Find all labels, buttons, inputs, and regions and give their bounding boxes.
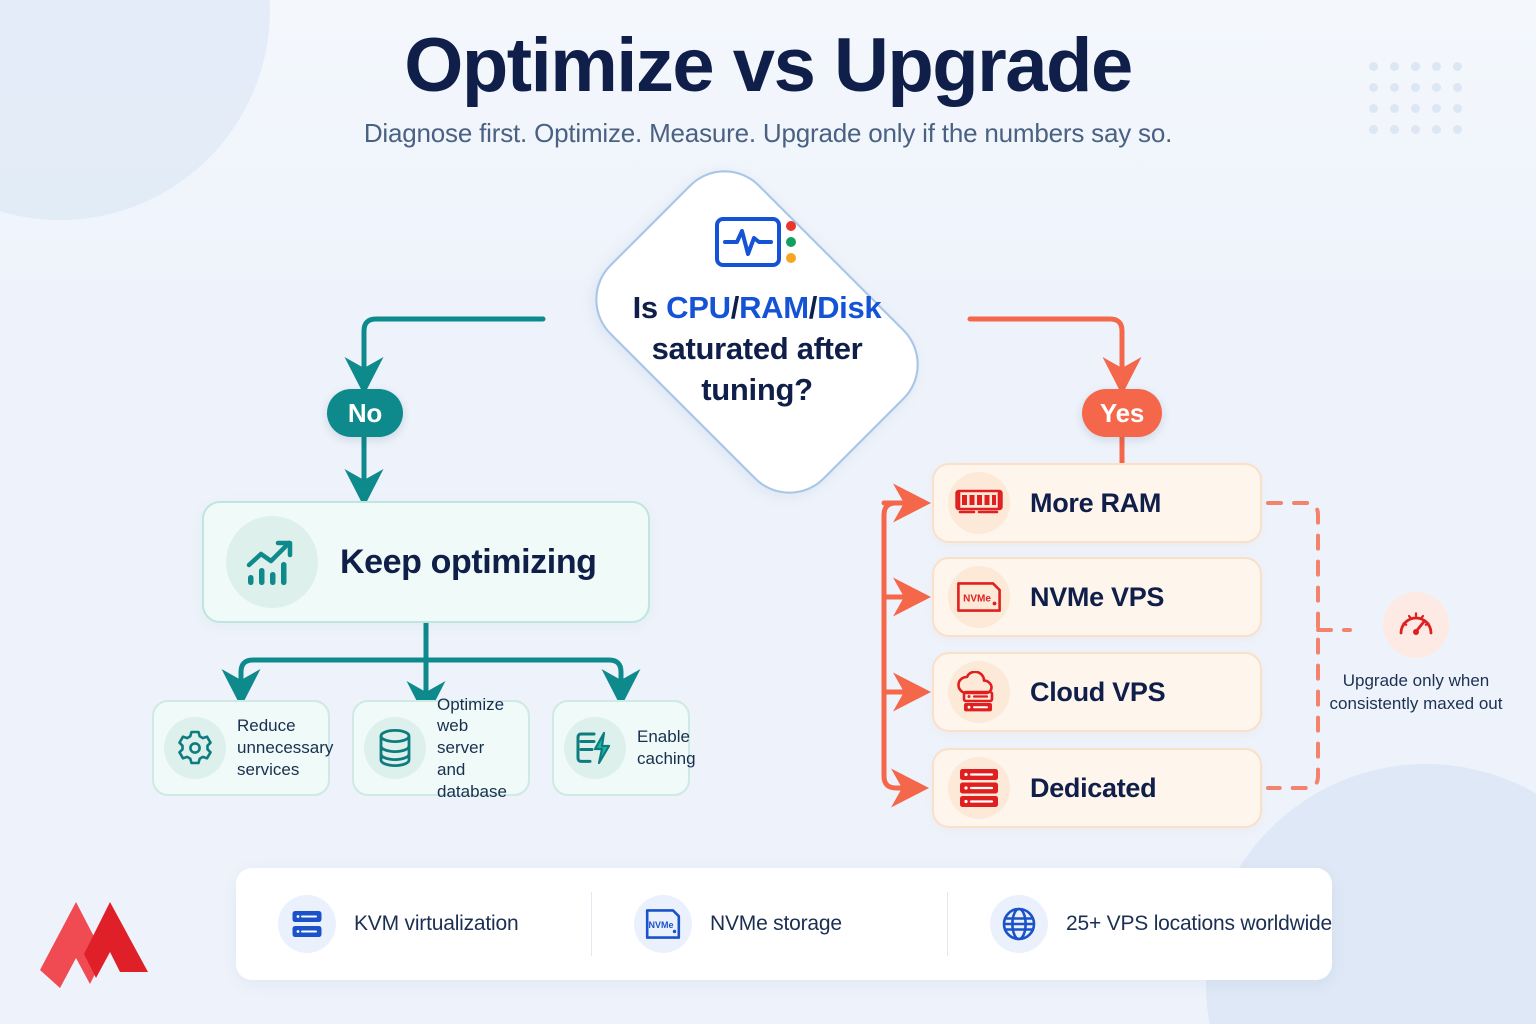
optimize-action-card-reduce-services[interactable]: Reduce unnecessary services [152, 700, 330, 796]
upgrade-option-card-more-ram[interactable]: More RAM [932, 463, 1262, 543]
upgrade-note: Upgrade only when consistently maxed out [1327, 592, 1505, 715]
optimize-action-label: Enable caching [637, 726, 696, 770]
upgrade-note-text: Upgrade only when consistently maxed out [1327, 670, 1505, 715]
optimize-action-label: Optimize web server and database [437, 694, 516, 803]
upgrade-option-card-nvme-vps[interactable]: NVMe NVMe VPS [932, 557, 1262, 637]
upgrade-option-label: NVMe VPS [1030, 582, 1164, 613]
page-title: Optimize vs Upgrade [0, 26, 1536, 106]
footer-item-vps-locations: 25+ VPS locations worldwide [948, 895, 1332, 953]
upgrade-option-card-dedicated[interactable]: Dedicated [932, 748, 1262, 828]
nvme-chip-icon: NVMe [948, 566, 1010, 628]
nvme-chip-icon: NVMe [634, 895, 692, 953]
upgrade-option-label: Cloud VPS [1030, 677, 1165, 708]
header: Optimize vs Upgrade Diagnose first. Opti… [0, 26, 1536, 149]
connector-no [364, 319, 543, 376]
svg-text:NVMe: NVMe [648, 920, 673, 930]
server-rack-icon [948, 757, 1010, 819]
connector-keep-left [241, 660, 426, 688]
growth-chart-icon [226, 516, 318, 608]
connector-upgrade-spine [884, 503, 912, 788]
page-subtitle: Diagnose first. Optimize. Measure. Upgra… [0, 118, 1536, 149]
connector-keep-right [426, 660, 621, 688]
decision-separator-1: / [731, 290, 739, 325]
optimize-action-label: Reduce unnecessary services [237, 715, 333, 780]
server-stack-icon [278, 895, 336, 953]
badge-no: No [327, 389, 403, 437]
m-logo-icon [38, 888, 150, 992]
footer-item-label: KVM virtualization [354, 912, 518, 936]
database-icon [364, 717, 426, 779]
decision-content: Is CPU/RAM/Disk saturated after tuning? [542, 182, 972, 482]
upgrade-option-label: Dedicated [1030, 773, 1156, 804]
decision-line-2: saturated after [652, 331, 863, 366]
decision-question: Is CPU/RAM/Disk saturated after tuning? [633, 287, 882, 411]
cache-bolt-icon [564, 717, 626, 779]
optimize-action-card-web-server-db[interactable]: Optimize web server and database [352, 700, 530, 796]
decision-metric-disk: Disk [817, 290, 881, 325]
footer-item-label: 25+ VPS locations worldwide [1066, 912, 1332, 936]
footer-item-nvme-storage: NVMe NVMe storage [592, 895, 947, 953]
keep-optimizing-card[interactable]: Keep optimizing [202, 501, 650, 623]
decision-metric-ram: RAM [739, 290, 809, 325]
connector-yes [970, 319, 1122, 376]
decision-line-3: tuning? [701, 372, 813, 407]
monitor-pulse-icon [715, 216, 799, 279]
decision-prefix: Is [633, 290, 667, 325]
gear-icon [164, 717, 226, 779]
keep-optimizing-label: Keep optimizing [340, 543, 597, 582]
decision-metric-cpu: CPU [666, 290, 731, 325]
ram-stick-icon [948, 472, 1010, 534]
optimize-action-card-enable-caching[interactable]: Enable caching [552, 700, 690, 796]
globe-icon [990, 895, 1048, 953]
footer-feature-bar: KVM virtualization NVMe NVMe storage [236, 868, 1332, 980]
upgrade-option-label: More RAM [1030, 488, 1161, 519]
connector-note-bracket [1268, 503, 1318, 788]
badge-yes: Yes [1082, 389, 1162, 437]
decision-separator-2: / [809, 290, 817, 325]
footer-item-kvm-virtualization: KVM virtualization [236, 895, 591, 953]
upgrade-option-card-cloud-vps[interactable]: Cloud VPS [932, 652, 1262, 732]
gauge-icon [1383, 592, 1449, 658]
infographic-canvas: Optimize vs Upgrade Diagnose first. Opti… [0, 0, 1536, 1024]
cloud-server-icon [948, 661, 1010, 723]
footer-item-label: NVMe storage [710, 912, 842, 936]
svg-text:NVMe: NVMe [963, 594, 991, 605]
decision-node: Is CPU/RAM/Disk saturated after tuning? [542, 182, 972, 482]
